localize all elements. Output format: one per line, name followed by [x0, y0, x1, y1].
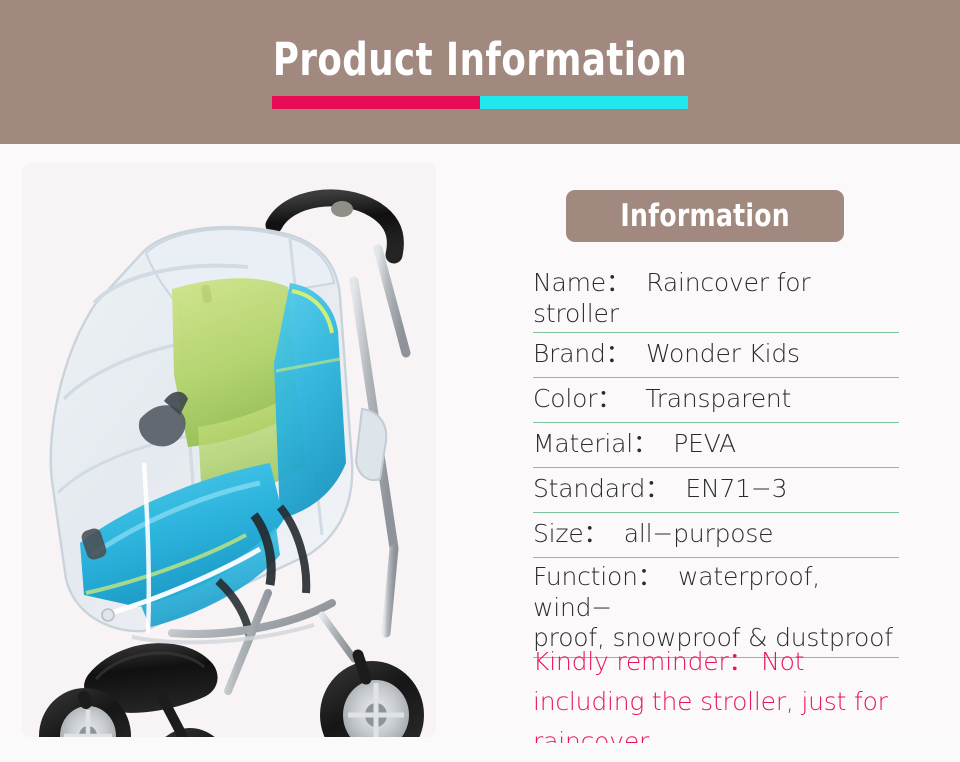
header-accent-rule — [272, 96, 688, 109]
spec-text-standard: Standard： EN71−3 — [533, 474, 787, 505]
accent-rule-left — [272, 96, 480, 109]
spec-row-material: Material： PEVA — [533, 423, 899, 468]
accent-rule-right — [480, 96, 688, 109]
spec-text-color: Color： Transparent — [533, 384, 791, 415]
spec-row-brand: Brand： Wonder Kids — [533, 333, 899, 378]
spec-row-color: Color： Transparent — [533, 378, 899, 423]
spec-text-material: Material： PEVA — [533, 429, 736, 460]
product-photo — [22, 163, 436, 737]
page-bottom-strip — [0, 743, 960, 757]
specification-list: Name： Raincover for stroller Brand： Wond… — [533, 266, 899, 658]
page-title: Product Information — [58, 33, 903, 86]
spec-row-size: Size： all−purpose — [533, 513, 899, 558]
information-badge: Information — [566, 190, 844, 242]
spec-row-name: Name： Raincover for stroller — [533, 266, 899, 333]
spec-text-size: Size： all−purpose — [533, 519, 773, 550]
spec-row-standard: Standard： EN71−3 — [533, 468, 899, 513]
spec-text-function: Function： waterproof, wind− proof, snowp… — [533, 562, 899, 654]
page-header: Product Information — [0, 0, 960, 144]
spec-text-name: Name： Raincover for stroller — [533, 268, 899, 329]
spec-text-brand: Brand： Wonder Kids — [533, 339, 800, 370]
product-image-panel[interactable] — [22, 163, 436, 737]
information-badge-label: Information — [620, 198, 790, 234]
stroller-raincover-illustration — [22, 163, 436, 737]
